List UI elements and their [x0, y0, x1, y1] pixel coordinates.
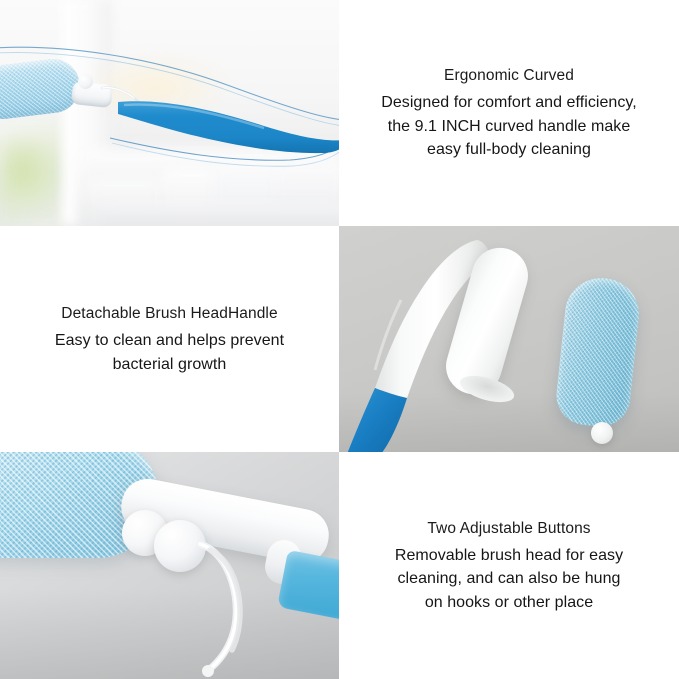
- description-line: Removable brush head for easy: [395, 544, 623, 568]
- description-line: bacterial growth: [55, 353, 284, 377]
- photo-buttons-closeup: [0, 452, 339, 679]
- text-two-adjustable-buttons: Two Adjustable Buttons Removable brush h…: [339, 452, 679, 679]
- description-line: cleaning, and can also be hung: [395, 567, 623, 591]
- feature-title: Two Adjustable Buttons: [427, 517, 590, 540]
- photo-disassembled-parts: [339, 226, 679, 452]
- hanging-loop-cord: [180, 538, 290, 678]
- feature-title: Detachable Brush HeadHandle: [61, 302, 277, 325]
- feature-title: Ergonomic Curved: [444, 64, 574, 87]
- feature-description: Removable brush head for easy cleaning, …: [395, 544, 623, 615]
- photo-curved-handle: [0, 0, 339, 226]
- feature-description: Designed for comfort and efficiency, the…: [381, 91, 637, 162]
- text-detachable-brush-head: Detachable Brush HeadHandle Easy to clea…: [0, 226, 339, 452]
- description-line: easy full-body cleaning: [381, 138, 637, 162]
- description-line: the 9.1 INCH curved handle make: [381, 115, 637, 139]
- feature-description: Easy to clean and helps prevent bacteria…: [55, 329, 284, 376]
- description-line: on hooks or other place: [395, 591, 623, 615]
- description-line: Designed for comfort and efficiency,: [381, 91, 637, 115]
- collage-grid: Ergonomic Curved Designed for comfort an…: [0, 0, 679, 679]
- text-ergonomic-curved: Ergonomic Curved Designed for comfort an…: [339, 0, 679, 226]
- blue-curved-grip: [118, 96, 339, 154]
- product-feature-collage: Ergonomic Curved Designed for comfort an…: [0, 0, 679, 679]
- mesh-cover-tip: [591, 422, 613, 444]
- description-line: Easy to clean and helps prevent: [55, 329, 284, 353]
